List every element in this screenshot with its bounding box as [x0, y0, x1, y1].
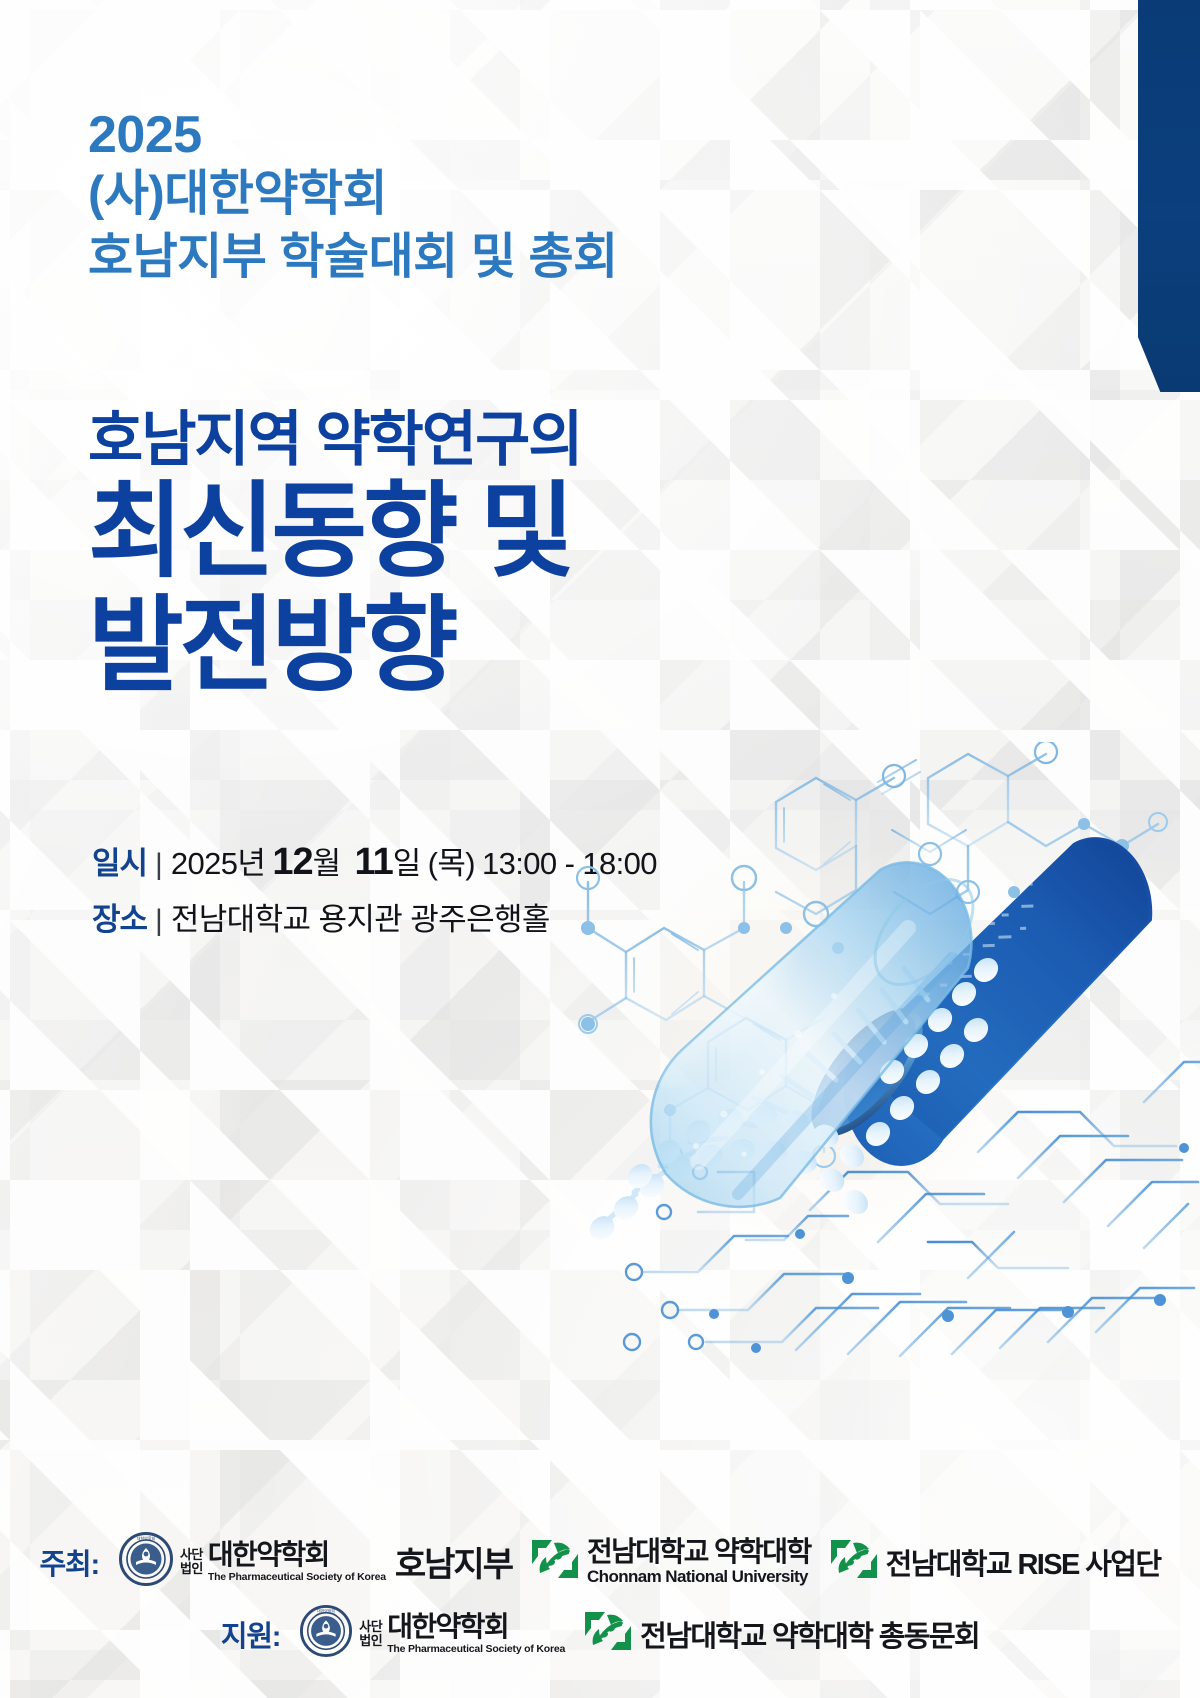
psk-prefix-bottom: 법인: [359, 1634, 382, 1647]
logo-cnu-rise: 전남대학교 RISE 사업단: [829, 1537, 1161, 1586]
cnu-emblem-icon: [829, 1537, 879, 1586]
title-big-line1: 최신동향 및: [88, 475, 581, 589]
cnu-name-en: Chonnam National University: [587, 1568, 811, 1585]
support-label: 지원:: [221, 1613, 280, 1655]
logo-psk-honam: 대한약학회 사단 법인 대한약학회 The Pharmaceutical Soc…: [119, 1532, 512, 1591]
psk-names: 대한약학회 The Pharmaceutical Society of Kore…: [208, 1541, 386, 1583]
header-year: 2025: [88, 108, 618, 163]
poster-header: 2025 (사)대한약학회 호남지부 학술대회 및 총회: [88, 108, 618, 289]
psk-name-en: The Pharmaceutical Society of Korea: [387, 1643, 565, 1655]
date-year: 2025년: [171, 846, 265, 881]
page-title: 호남지역 약학연구의 최신동향 및 발전방향: [88, 405, 581, 703]
poster-canvas: 2025 (사)대한약학회 호남지부 학술대회 및 총회 호남지역 약학연구의 …: [0, 0, 1200, 1698]
psk-wordmark: 사단 법인 대한약학회 The Pharmaceutical Society o…: [180, 1537, 512, 1586]
month-unit: 월: [313, 846, 341, 881]
date-weekday: (목): [428, 846, 475, 881]
svg-text:대한약학회: 대한약학회: [137, 1535, 156, 1541]
venue-label: 장소: [92, 894, 147, 939]
navy-corner-band: [1138, 0, 1200, 392]
psk-prefix-top: 사단: [180, 1548, 203, 1561]
psk-branch-name: 호남지부: [395, 1537, 512, 1586]
psk-emblem-icon: 대한약학회: [119, 1532, 173, 1591]
svg-text:대한약학회: 대한약학회: [317, 1609, 335, 1614]
psk-prefix-bottom: 법인: [180, 1562, 203, 1575]
psk-name-kr: 대한약학회: [208, 1541, 386, 1569]
date-day: 11: [355, 841, 393, 883]
psk-name-en: The Pharmaceutical Society of Korea: [208, 1571, 386, 1583]
capsule-dna-circuit-illustration: [548, 742, 1200, 1362]
date-label: 일시: [92, 838, 147, 883]
psk-name-kr: 대한약학회: [387, 1613, 565, 1641]
cnu-rise-name: 전남대학교 RISE 사업단: [886, 1541, 1161, 1583]
psk-wordmark-support: 사단 법인 대한약학회 The Pharmaceutical Society o…: [359, 1613, 565, 1655]
date-separator: |: [155, 848, 163, 882]
cnu-emblem-icon: [530, 1537, 580, 1586]
cnu-name-kr: 전남대학교 약학대학: [587, 1538, 811, 1567]
psk-legal-prefix: 사단 법인: [359, 1620, 382, 1647]
venue-separator: |: [155, 904, 163, 938]
title-subline: 호남지역 약학연구의: [88, 405, 581, 475]
logo-psk-support: 대한약학회 사단 법인 대한약학회 The Pharmaceutical Soc…: [300, 1605, 565, 1662]
date-month: 12: [272, 841, 312, 883]
logo-cnu-pharmacy: 전남대학교 약학대학 Chonnam National University: [530, 1537, 811, 1586]
logo-cnu-alumni: 전남대학교 약학대학 총동문회: [583, 1609, 979, 1658]
day-unit: 일: [393, 846, 421, 881]
cnu-wordmark: 전남대학교 약학대학 Chonnam National University: [587, 1538, 811, 1585]
cnu-emblem-icon: [583, 1609, 633, 1658]
host-label: 주최:: [40, 1541, 99, 1583]
header-line1: (사)대한약학회: [88, 163, 618, 226]
psk-legal-prefix: 사단 법인: [180, 1548, 203, 1575]
psk-prefix-top: 사단: [359, 1620, 382, 1633]
sponsor-section: 주최: 대한약학회: [0, 1532, 1200, 1662]
title-big-line2: 발전방향: [88, 589, 581, 703]
sponsor-row-host: 주최: 대한약학회: [0, 1532, 1200, 1591]
cnu-alumni-name: 전남대학교 약학대학 총동문회: [640, 1613, 979, 1655]
header-line2: 호남지부 학술대회 및 총회: [88, 226, 618, 289]
psk-emblem-icon: 대한약학회: [300, 1605, 352, 1662]
sponsor-row-support: 지원: 대한약학회: [0, 1605, 1200, 1662]
venue-value: 전남대학교 용지관 광주은행홀: [171, 894, 550, 939]
psk-names: 대한약학회 The Pharmaceutical Society of Kore…: [387, 1613, 565, 1655]
